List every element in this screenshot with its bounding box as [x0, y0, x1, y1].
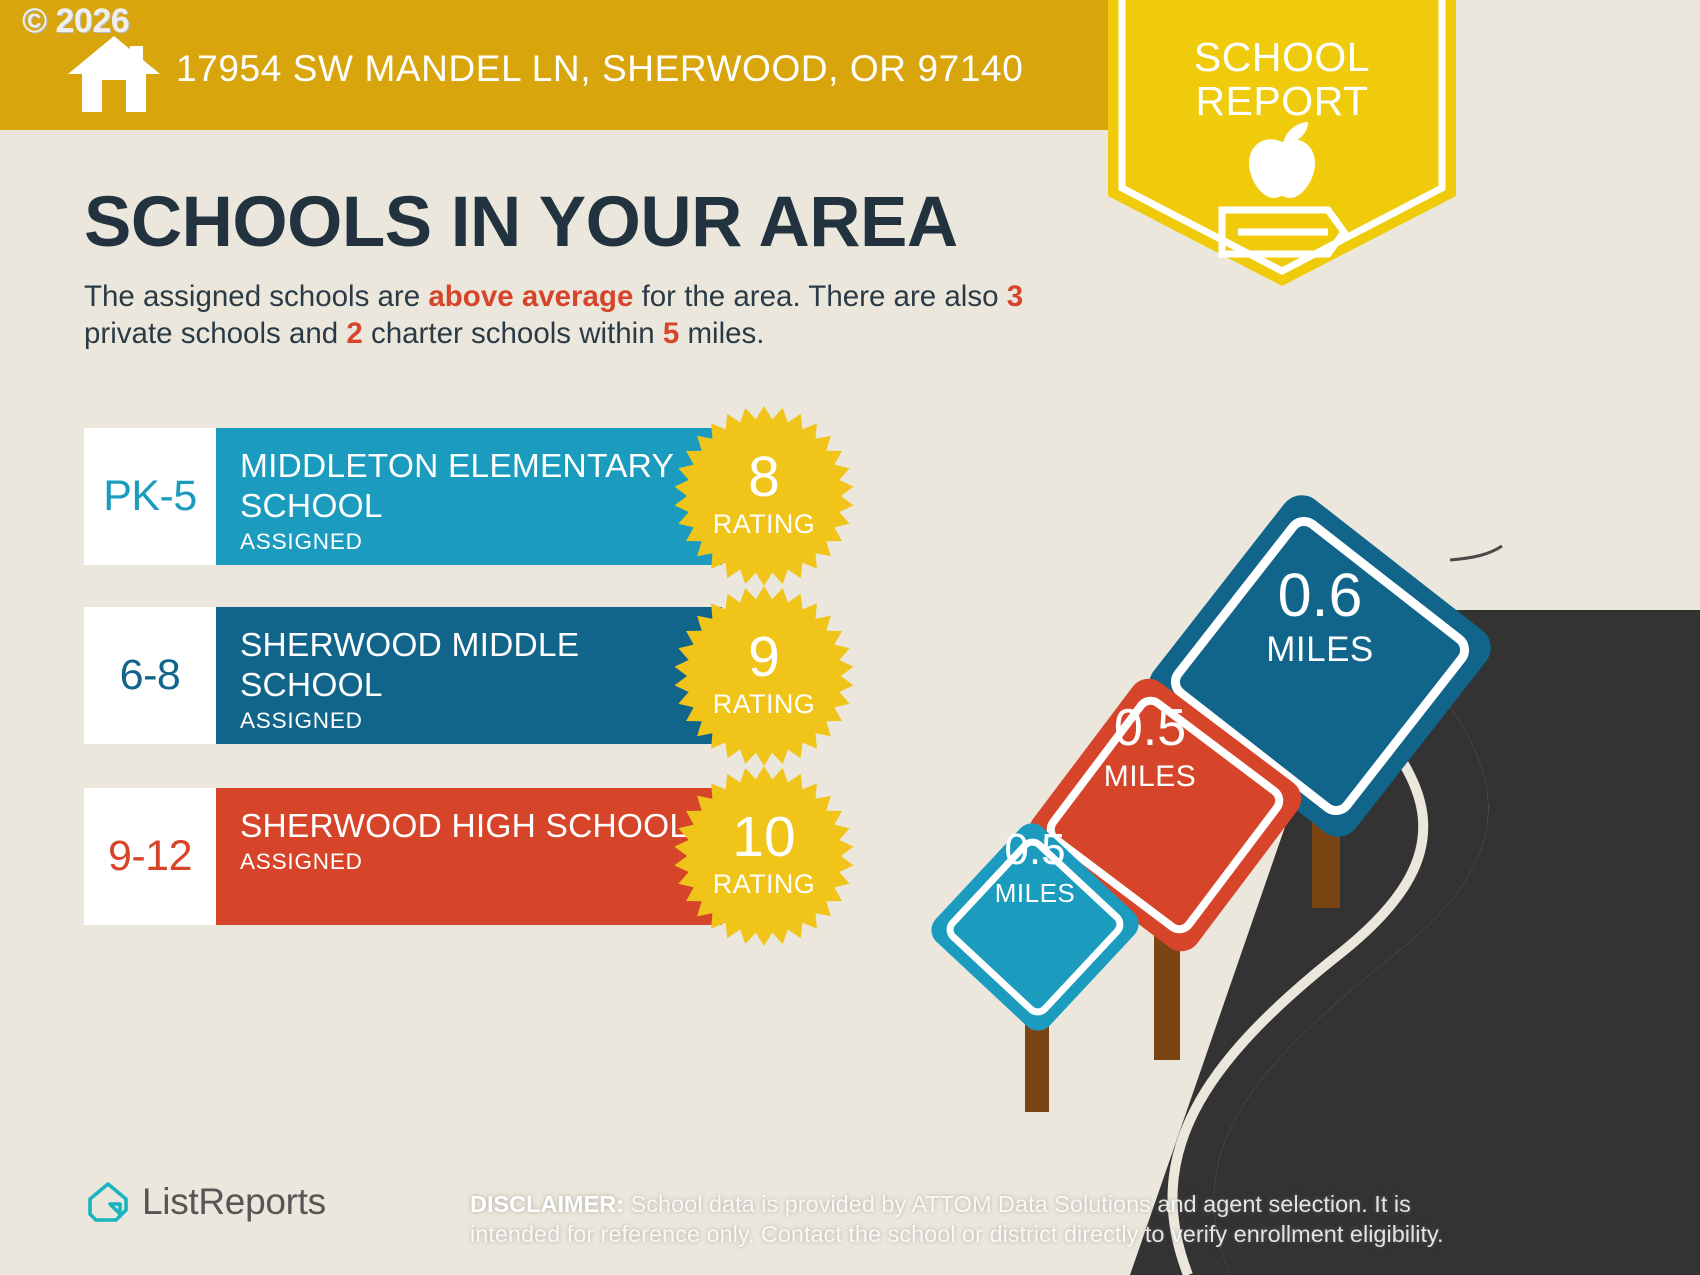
school-status-label: ASSIGNED [240, 529, 722, 555]
rating-badge: 8 RATING [674, 406, 854, 586]
rating-value: 10 [674, 804, 854, 870]
summary-part-2: for the area. There are also [633, 280, 1006, 313]
summary-text: The assigned schools are above average f… [84, 278, 1094, 352]
sign-distance-value: 0.5 [1060, 698, 1240, 758]
rating-value: 8 [674, 444, 854, 510]
rating-badge: 10 RATING [674, 766, 854, 946]
rating-caption: RATING [674, 869, 854, 900]
home-icon [68, 34, 160, 114]
grade-range-box: 6-8 [84, 607, 216, 744]
sign-distance-unit: MILES [1060, 760, 1240, 794]
grade-range-label: 6-8 [120, 651, 181, 700]
school-report-badge: SCHOOL REPORT [1108, 0, 1456, 298]
school-name: SHERWOOD HIGH SCHOOL [240, 807, 722, 847]
school-name: SHERWOOD MIDDLE SCHOOL [240, 626, 722, 706]
sign-distance-unit: MILES [960, 878, 1110, 909]
school-name: MIDDLETON ELEMENTARY SCHOOL [240, 447, 722, 527]
summary-part-4: charter schools within [363, 317, 663, 350]
school-status-label: ASSIGNED [240, 708, 722, 734]
disclaimer-text: DISCLAIMER: School data is provided by A… [470, 1189, 1480, 1249]
listreports-wordmark: ListReports [142, 1181, 326, 1223]
school-row[interactable]: 9-12 SHERWOOD HIGH SCHOOL ASSIGNED [84, 788, 722, 925]
school-row[interactable]: PK-5 MIDDLETON ELEMENTARY SCHOOL ASSIGNE… [84, 428, 722, 565]
summary-part-1: The assigned schools are [84, 280, 428, 313]
school-row[interactable]: 6-8 SHERWOOD MIDDLE SCHOOL ASSIGNED [84, 607, 722, 744]
school-name-bar: SHERWOOD MIDDLE SCHOOL ASSIGNED [216, 607, 722, 744]
grade-range-label: 9-12 [108, 832, 192, 881]
rating-value: 9 [674, 624, 854, 690]
rating-badge: 9 RATING [674, 586, 854, 766]
summary-highlight-private-count: 3 [1007, 280, 1023, 313]
badge-line-1: SCHOOL [1108, 34, 1456, 81]
grade-range-box: 9-12 [84, 788, 216, 925]
page-title: SCHOOLS IN YOUR AREA [84, 182, 958, 263]
school-report-infographic: © 2026 17954 SW MANDEL LN, SHERWOOD, OR … [0, 0, 1700, 1275]
listreports-logo[interactable]: ListReports [86, 1180, 326, 1224]
summary-highlight-radius: 5 [663, 317, 679, 350]
grade-range-label: PK-5 [103, 472, 197, 521]
summary-part-5: miles. [679, 317, 764, 350]
school-name-bar: MIDDLETON ELEMENTARY SCHOOL ASSIGNED [216, 428, 722, 565]
property-address: 17954 SW MANDEL LN, SHERWOOD, OR 97140 [176, 48, 1023, 90]
sign-distance-value: 0.6 [1220, 560, 1420, 630]
road-signs-scene: 0.6 MILES 0.5 MILES 0.5 MILES [930, 430, 1700, 1275]
disclaimer-label: DISCLAIMER: [470, 1191, 624, 1217]
rating-caption: RATING [674, 509, 854, 540]
summary-part-3: private schools and [84, 317, 346, 350]
school-status-label: ASSIGNED [240, 849, 722, 875]
summary-highlight-rating: above average [428, 280, 633, 313]
badge-line-2: REPORT [1108, 78, 1456, 125]
grade-range-box: PK-5 [84, 428, 216, 565]
listreports-house-icon [86, 1180, 130, 1224]
wire-detail [1450, 546, 1502, 560]
school-name-bar: SHERWOOD HIGH SCHOOL ASSIGNED [216, 788, 722, 925]
summary-highlight-charter-count: 2 [346, 317, 362, 350]
rating-caption: RATING [674, 689, 854, 720]
copyright-watermark: © 2026 [22, 2, 129, 41]
sign-distance-value: 0.5 [960, 825, 1110, 875]
sign-distance-unit: MILES [1220, 630, 1420, 670]
